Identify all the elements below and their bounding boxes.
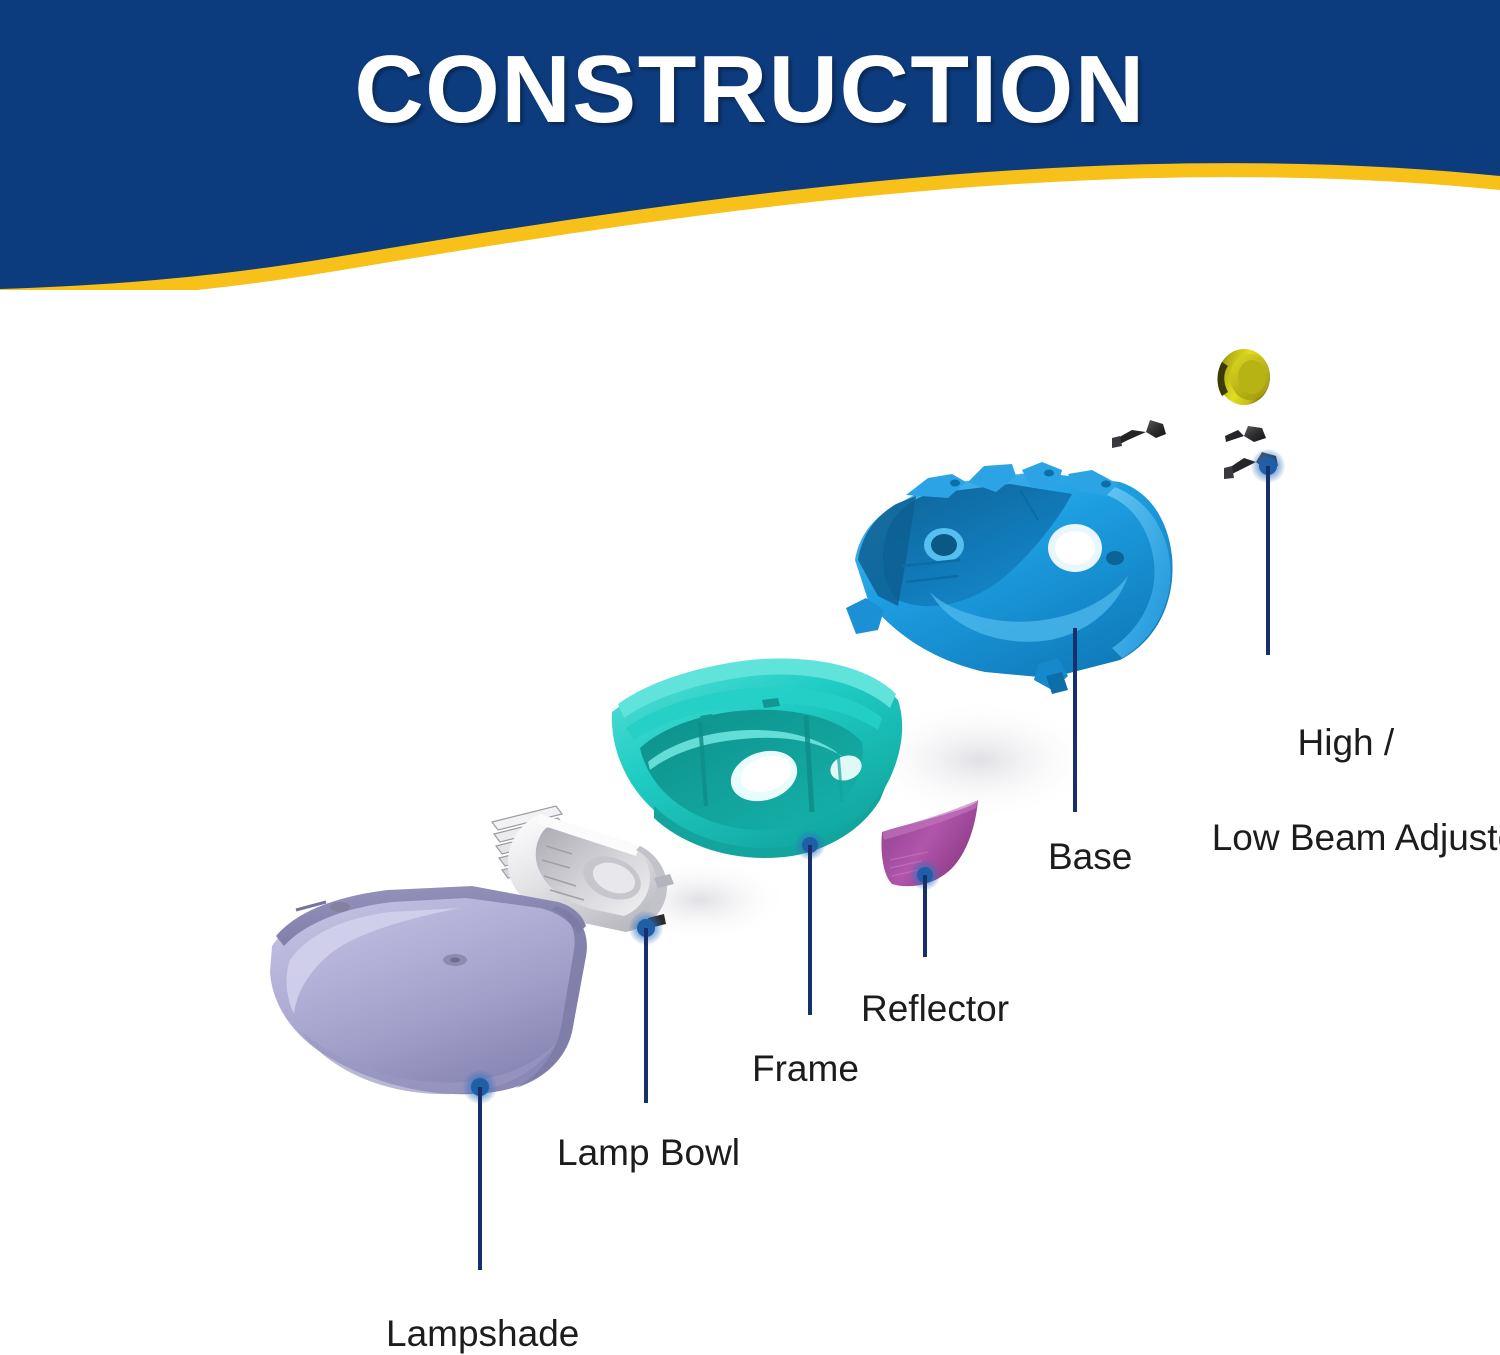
label-base: Base (1048, 833, 1132, 880)
adjuster-screw-left (1112, 420, 1166, 448)
part-lampshade (270, 886, 587, 1094)
base-tab-hole-1 (950, 480, 960, 487)
lampshade-boss-mid-hole (450, 958, 460, 963)
adjuster-cap-icon (1218, 349, 1271, 405)
label-beam-adjuster-line-1: High / (1298, 722, 1395, 763)
part-base (846, 462, 1173, 694)
label-lamp-bowl: Lamp Bowl (557, 1129, 740, 1176)
label-lampshade: Lampshade (386, 1310, 579, 1355)
base-tab-hole-2 (1044, 470, 1054, 477)
base-tab-hole-3 (1101, 481, 1111, 488)
adjuster-screw-upper-right (1225, 426, 1266, 442)
exploded-diagram: Lampshade Lamp Bowl Frame Reflector Base… (0, 0, 1500, 1355)
label-beam-adjuster: High / Low Beam Adjuster (1150, 672, 1480, 909)
base-small-hole (1106, 551, 1124, 565)
label-beam-adjuster-line-2: Low Beam Adjuster (1212, 817, 1500, 858)
lampshade-boss-left (330, 902, 350, 912)
base-bulb-hole-right-inner (1055, 531, 1095, 565)
part-frame (612, 658, 902, 858)
label-frame: Frame (752, 1045, 859, 1092)
label-reflector: Reflector (861, 985, 1009, 1032)
construction-diagram-page: CONSTRUCTION (0, 0, 1500, 1355)
base-bulb-hole-left-inner (931, 534, 957, 556)
